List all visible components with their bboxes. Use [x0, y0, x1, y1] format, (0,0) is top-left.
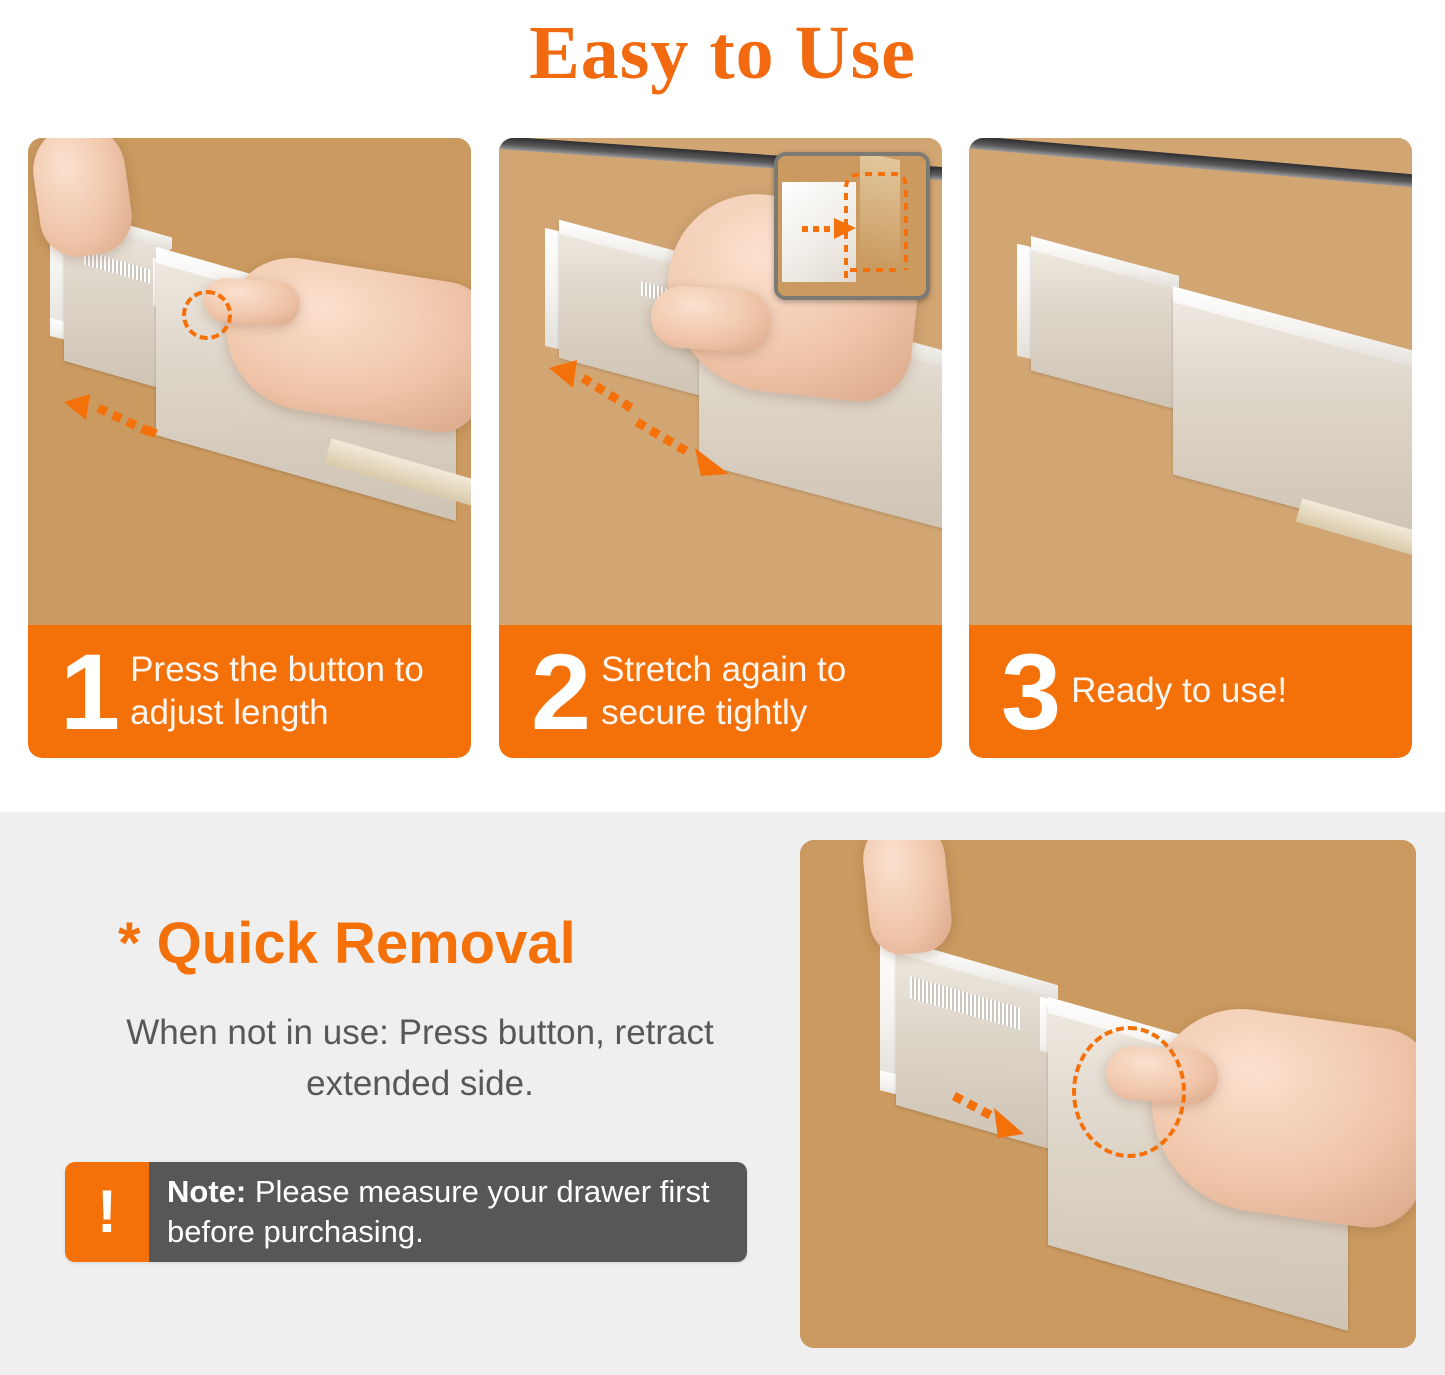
arrow-left-dashed-icon [50, 390, 165, 448]
arrow-right-dashed-icon [948, 1088, 1034, 1148]
exclamation-icon: ! [65, 1162, 149, 1262]
inset-dashed-outline-icon [838, 166, 914, 282]
quick-removal-section: * Quick Removal When not in use: Press b… [0, 812, 1445, 1375]
step-1-number: 1 [28, 638, 124, 746]
button-highlight-dashed-circle [182, 290, 232, 340]
note-label: Note: [167, 1174, 246, 1209]
step-card-2: 2 Stretch again to secure tightly [499, 138, 942, 758]
arrow-downright-dashed-icon [629, 412, 747, 482]
step-2-text: Stretch again to secure tightly [595, 649, 942, 734]
step-1-caption: 1 Press the button to adjust length [28, 625, 471, 758]
note-banner: ! Note: Please measure your drawer first… [65, 1162, 747, 1262]
button-highlight-dashed-circle [1072, 1026, 1186, 1158]
note-message: Please measure your drawer first before … [167, 1174, 710, 1249]
easy-to-use-section: Easy to Use [0, 0, 1445, 812]
steps-row: 1 Press the button to adjust length [28, 138, 1418, 758]
step-card-1: 1 Press the button to adjust length [28, 138, 471, 758]
note-text: Note: Please measure your drawer first b… [167, 1172, 733, 1251]
step-2-number: 2 [499, 638, 595, 746]
page-title: Easy to Use [0, 0, 1445, 112]
quick-removal-description: When not in use: Press button, retract e… [120, 1007, 720, 1109]
detail-inset [774, 152, 930, 300]
step-3-text: Ready to use! [1065, 670, 1295, 713]
step-3-photo [969, 138, 1412, 625]
step-1-text: Press the button to adjust length [124, 649, 471, 734]
quick-removal-title: * Quick Removal [118, 910, 576, 977]
note-body: Note: Please measure your drawer first b… [149, 1162, 747, 1262]
step-2-photo [499, 138, 942, 625]
quick-removal-photo [800, 840, 1416, 1348]
step-card-3: 3 Ready to use! [969, 138, 1412, 758]
step-3-number: 3 [969, 638, 1065, 746]
step-2-caption: 2 Stretch again to secure tightly [499, 625, 942, 758]
step-3-caption: 3 Ready to use! [969, 625, 1412, 758]
arrow-upleft-dashed-icon [535, 356, 645, 418]
step-1-photo [28, 138, 471, 625]
hand-fingers [649, 284, 773, 354]
